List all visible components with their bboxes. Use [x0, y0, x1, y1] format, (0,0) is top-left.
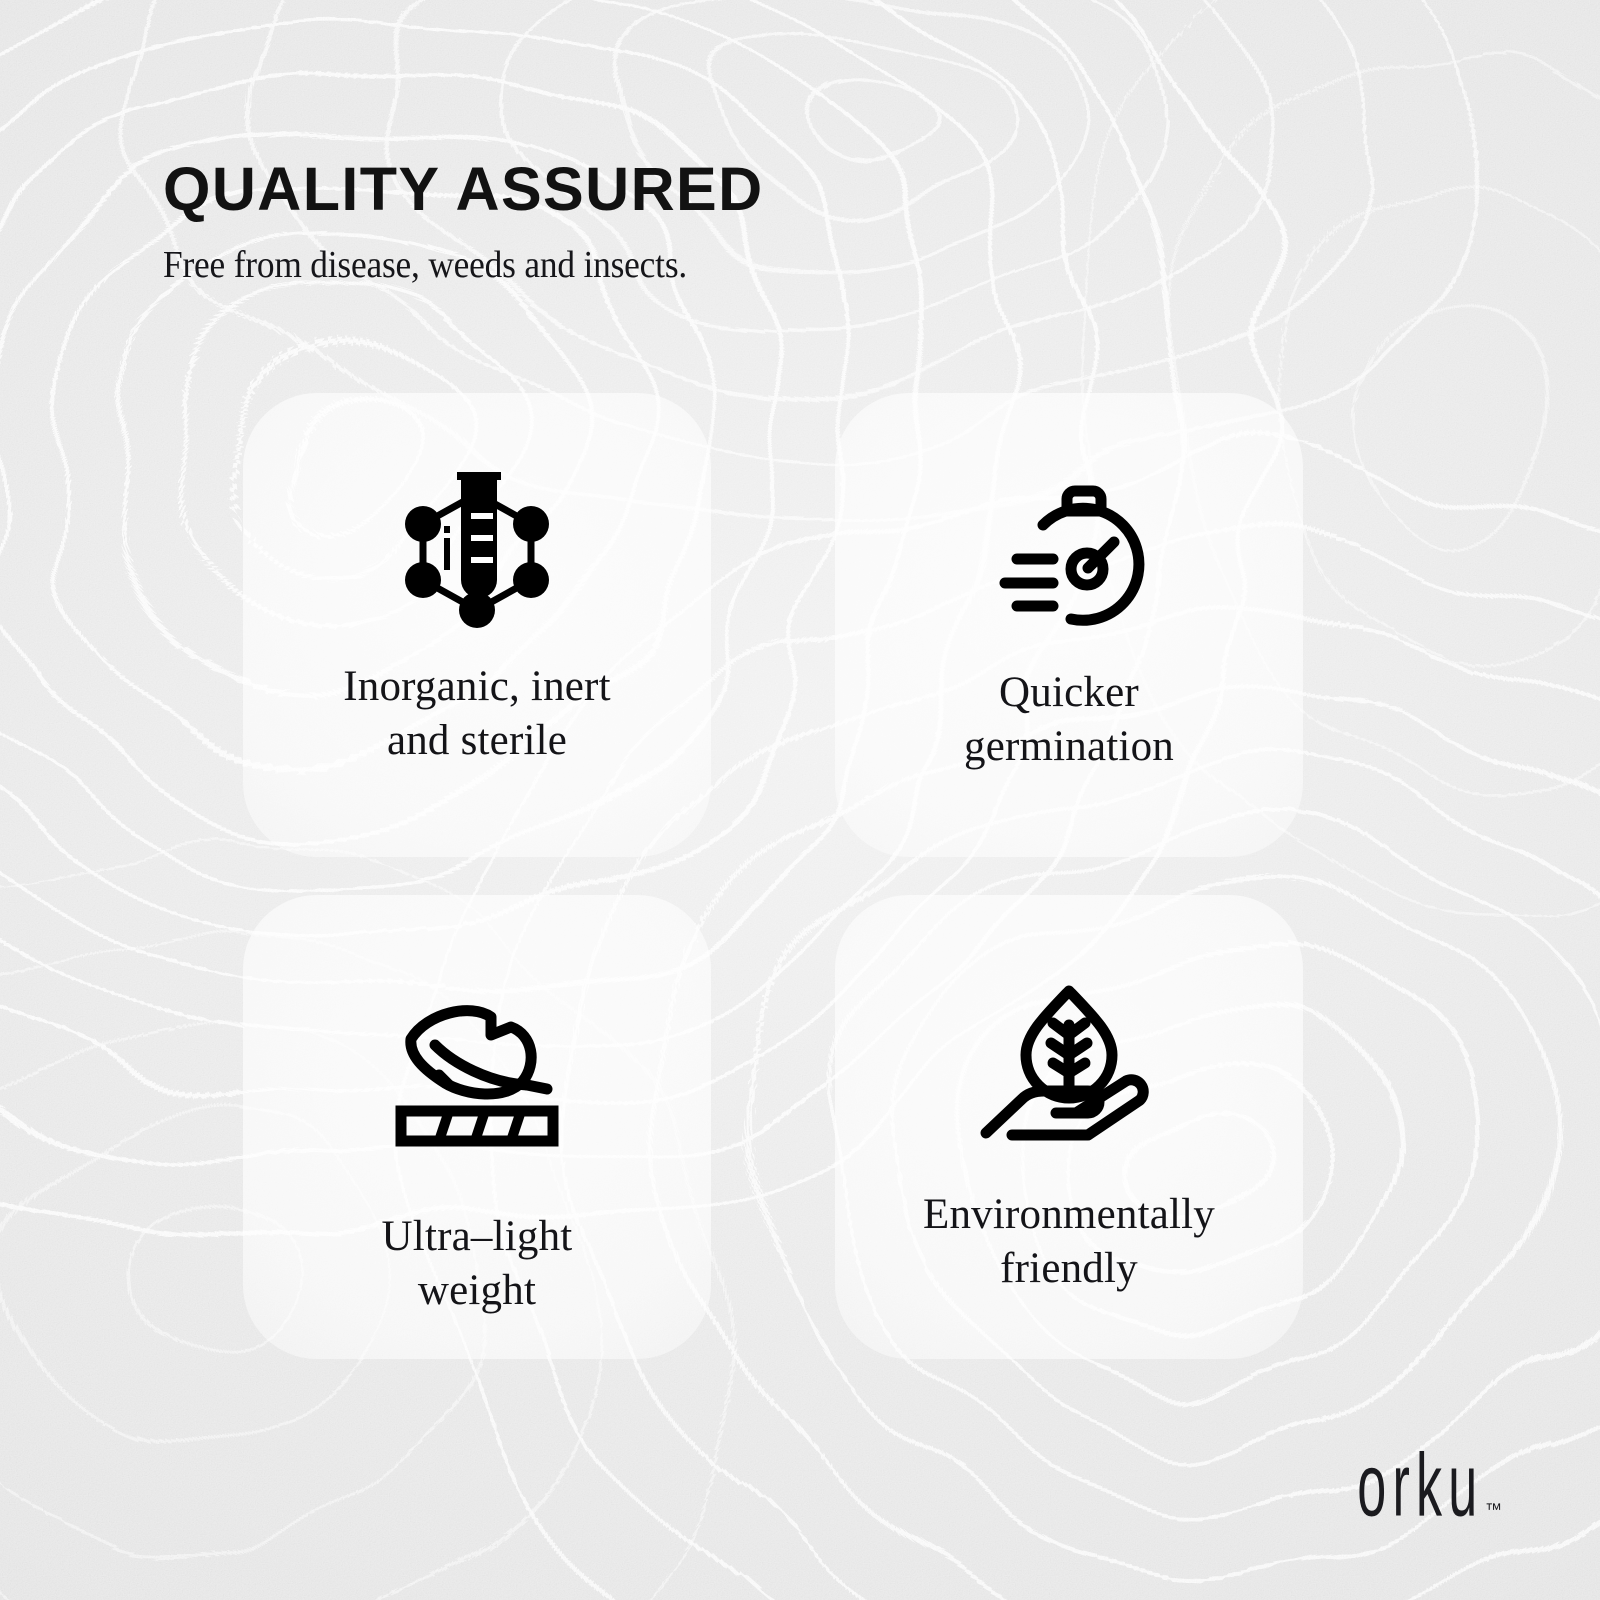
brand-logo[interactable]: orku ™	[1280, 1449, 1502, 1526]
feature-card-label: Ultra–light weight	[382, 1210, 573, 1318]
molecule-test-tube-icon	[382, 461, 572, 636]
feature-card-quicker-germination[interactable]: Quicker germination	[835, 393, 1303, 857]
stopwatch-speed-icon	[974, 465, 1164, 640]
feature-card-ultra-light-weight[interactable]: Ultra–light weight	[243, 895, 711, 1359]
page-subtitle: Free from disease, weeds and insects.	[163, 243, 1000, 287]
feature-card-label: Environmentally friendly	[923, 1188, 1215, 1296]
feature-card-label: Quicker germination	[964, 666, 1174, 774]
feature-card-label: Inorganic, inert and sterile	[343, 660, 610, 768]
trademark-symbol: ™	[1485, 1500, 1502, 1520]
page-content: QUALITY ASSURED Free from disease, weeds…	[0, 0, 1600, 1600]
brand-wordmark: orku	[1357, 1444, 1483, 1526]
feature-card-inorganic[interactable]: Inorganic, inert and sterile	[243, 393, 711, 857]
page-title: QUALITY ASSURED	[163, 158, 1063, 220]
feather-on-mat-icon	[382, 985, 572, 1160]
header: QUALITY ASSURED Free from disease, weeds…	[163, 158, 1063, 287]
feature-card-grid: Inorganic, inert and sterile	[243, 393, 1303, 1359]
feature-card-environmentally-friendly[interactable]: Environmentally friendly	[835, 895, 1303, 1359]
leaf-in-hand-icon	[974, 975, 1164, 1150]
